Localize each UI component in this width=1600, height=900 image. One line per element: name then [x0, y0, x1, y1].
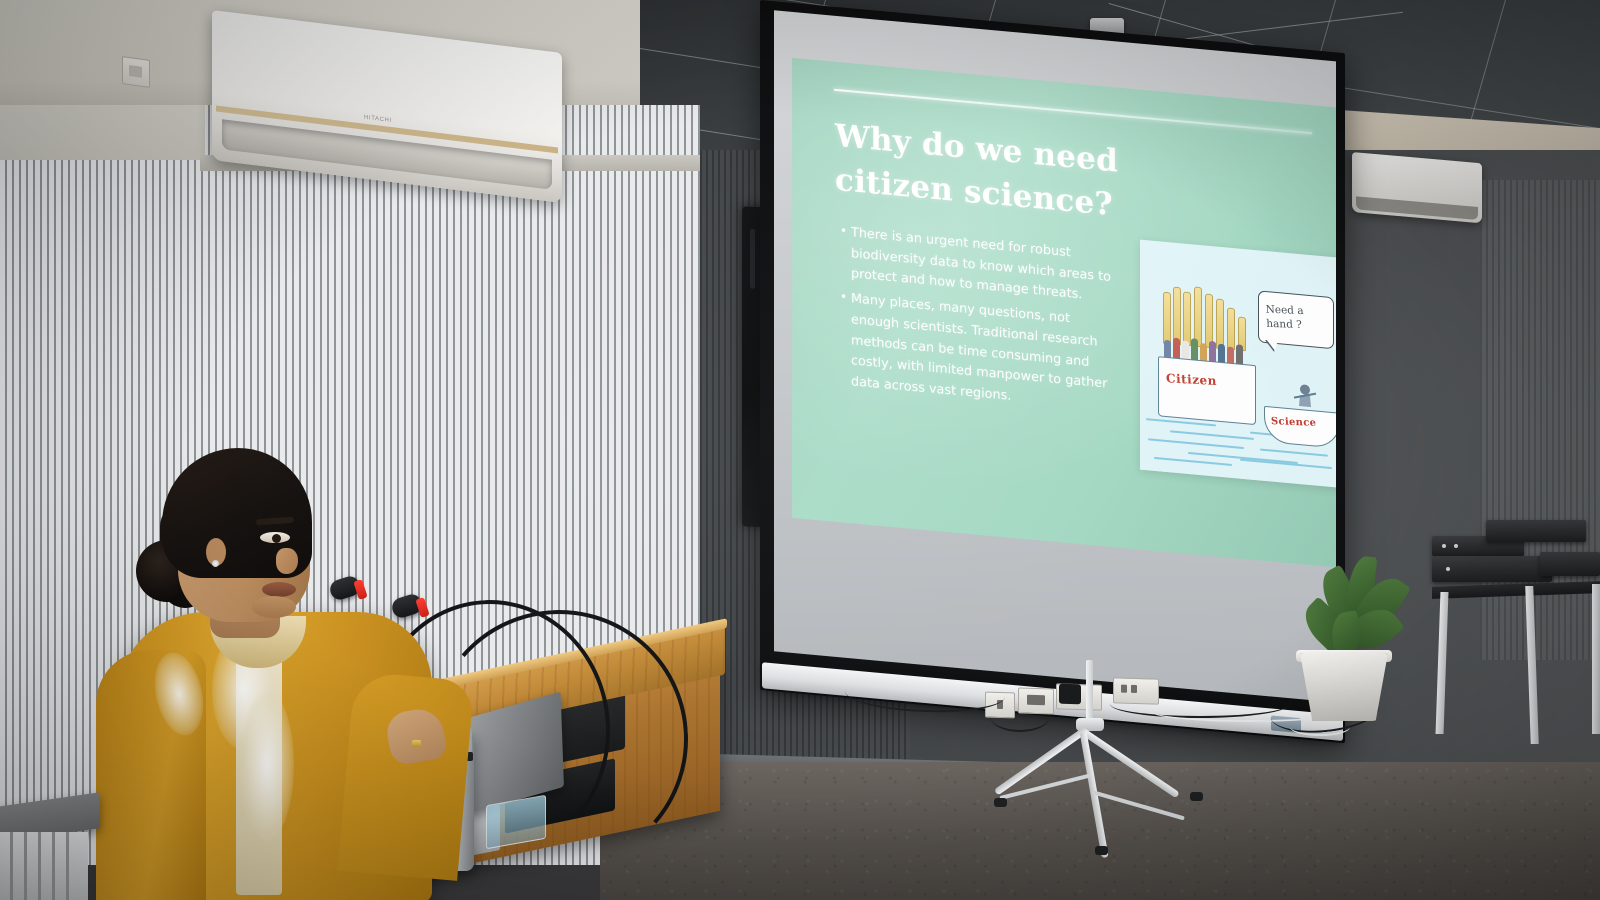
- floor-cable: [990, 700, 1050, 732]
- presenter-pupil: [272, 534, 281, 543]
- cartoon-citizen-boat: [1158, 356, 1256, 425]
- cartoon-science-label: Science: [1271, 416, 1333, 429]
- presenter-right-arm: [338, 671, 475, 881]
- wall-switch-plate[interactable]: [122, 56, 150, 88]
- av-equipment-unit: [1486, 520, 1586, 542]
- presenter-mouth: [262, 582, 296, 597]
- projected-slide: Why do we need citizen science? There is…: [792, 58, 1336, 568]
- av-equipment-unit: [1432, 556, 1552, 582]
- slide-bullet-list: There is an urgent need for robust biodi…: [840, 222, 1116, 421]
- presentation-room-photo: HITACHI Why do we need citizen science? …: [0, 0, 1600, 900]
- slide-cartoon-image: Citizen Science Need a hand ?: [1140, 240, 1336, 489]
- slide-bullet-item: Many places, many questions, not enough …: [840, 288, 1116, 417]
- wall-upper-band: [0, 105, 205, 160]
- plant-pot: [1300, 653, 1388, 721]
- projection-screen: Why do we need citizen science? There is…: [760, 0, 1345, 743]
- power-plug: [1059, 684, 1081, 705]
- cartoon-speech-bubble-tail: [1266, 339, 1278, 351]
- screen-tripod-foot: [994, 798, 1007, 807]
- side-table-base: [0, 832, 88, 900]
- screen-tripod-post: [1086, 660, 1093, 725]
- presenter-earring: [212, 560, 219, 567]
- slide-title: Why do we need citizen science?: [835, 114, 1135, 229]
- presenter-chin: [252, 596, 296, 618]
- presenter: [60, 440, 480, 900]
- kurta-embroidery: [240, 690, 294, 840]
- av-equipment-unit: [1540, 552, 1600, 576]
- air-conditioner-unit-secondary: [1352, 152, 1482, 223]
- screen-tripod-foot: [1095, 846, 1108, 855]
- av-table-leg: [1592, 584, 1600, 734]
- cartoon-rower: [1292, 381, 1318, 409]
- screen-tripod-foot: [1190, 792, 1203, 801]
- cartoon-speech-text: Need a hand ?: [1265, 303, 1328, 334]
- presenter-ring: [412, 740, 421, 747]
- presenter-nose: [276, 548, 298, 574]
